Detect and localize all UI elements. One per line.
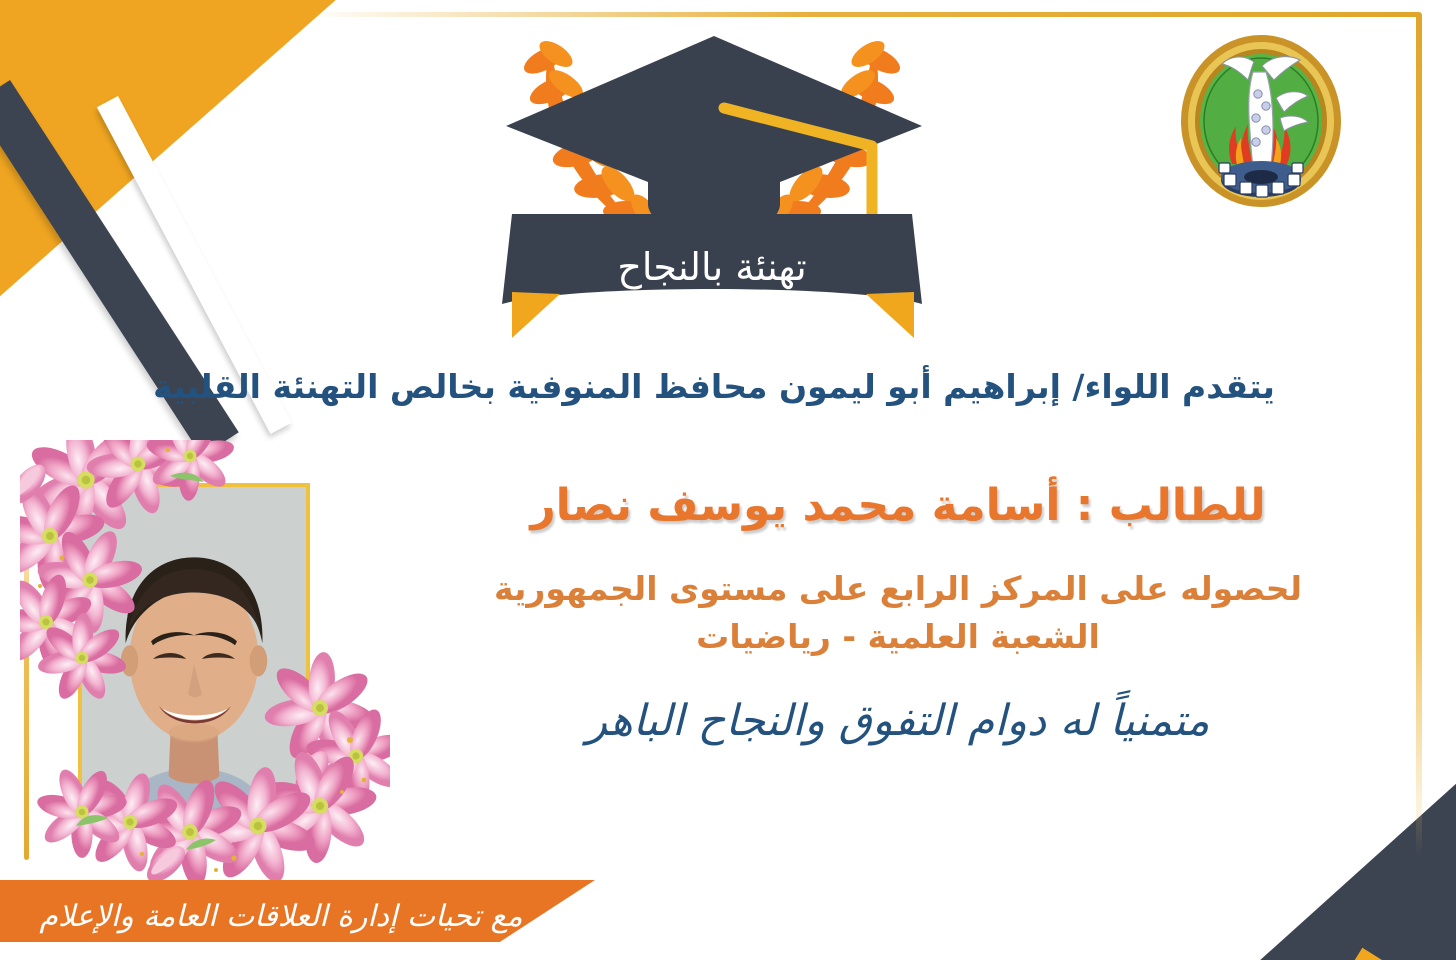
- footer-banner: [0, 880, 595, 942]
- monufia-governorate-logo-icon: [1178, 32, 1344, 210]
- achievement-line-2: الشعبة العلمية - رياضيات: [400, 613, 1396, 661]
- headline-text: يتقدم اللواء/ إبراهيم أبو ليمون محافظ ال…: [20, 366, 1408, 407]
- wish-text: متمنياً له دوام التفوق والنجاح الباهر: [400, 694, 1396, 750]
- right-gold-border-line: [1416, 12, 1422, 857]
- graduation-cap-icon: تهنئة بالنجاح: [452, 8, 972, 338]
- content-column: للطالب : أسامة محمد يوسف نصار لحصوله على…: [400, 480, 1396, 750]
- student-name: للطالب : أسامة محمد يوسف نصار: [400, 480, 1396, 533]
- congratulation-card: تهنئة بالنجاح: [0, 0, 1456, 960]
- flower-decoration-icon: [20, 440, 390, 890]
- achievement-block: لحصوله على المركز الرابع على مستوى الجمه…: [400, 565, 1396, 661]
- student-photo-block: [20, 440, 390, 890]
- ribbon-banner-text: تهنئة بالنجاح: [617, 245, 806, 290]
- bottom-right-dark-corner: [1258, 782, 1456, 960]
- achievement-line-1: لحصوله على المركز الرابع على مستوى الجمه…: [494, 569, 1302, 608]
